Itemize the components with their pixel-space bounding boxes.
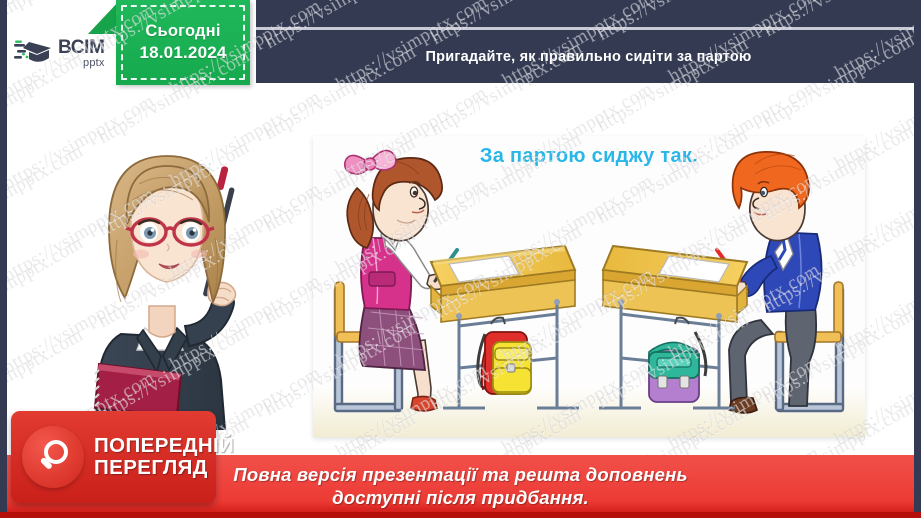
preview-badge[interactable]: ПОПЕРЕДНІЙ ПЕРЕГЛЯД <box>11 411 216 503</box>
preview-line-2: ПЕРЕГЛЯД <box>94 458 234 479</box>
red-notebook <box>95 364 181 416</box>
preview-line-1: ПОПЕРЕДНІЙ <box>94 436 234 457</box>
magnifier-icon <box>22 426 84 488</box>
presentation-slide: За партою сиджу так. <box>0 0 921 518</box>
header-top-fill <box>256 0 921 27</box>
logo-text: ВСІМ pptx <box>58 38 105 69</box>
graduation-cap-icon <box>13 36 57 70</box>
bottom-edge <box>0 512 921 518</box>
logo-name: ВСІМ <box>58 38 105 57</box>
classroom-scene-svg <box>313 136 865 437</box>
page-title: Пригадайте, як правильно сидіти за парто… <box>426 49 752 65</box>
preview-text: ПОПЕРЕДНІЙ ПЕРЕГЛЯД <box>94 436 234 479</box>
date-badge: Сьогодні 18.01.2024 <box>116 0 250 85</box>
date-label: Сьогодні <box>145 23 220 40</box>
magnifier-glyph <box>33 437 73 477</box>
teacher-illustration <box>69 120 279 430</box>
right-edge <box>914 0 921 518</box>
left-edge <box>0 0 7 518</box>
classroom-illustration: За партою сиджу так. <box>313 136 865 437</box>
logo-subtitle: pptx <box>58 58 105 69</box>
header-bar: Пригадайте, як правильно сидіти за парто… <box>256 30 921 83</box>
picture-title: За партою сиджу так. <box>313 145 865 168</box>
banner-line-2: доступні після придбання. <box>332 487 589 510</box>
banner-line-1: Повна версія презентації та решта доповн… <box>233 464 687 487</box>
date-value: 18.01.2024 <box>139 44 226 62</box>
